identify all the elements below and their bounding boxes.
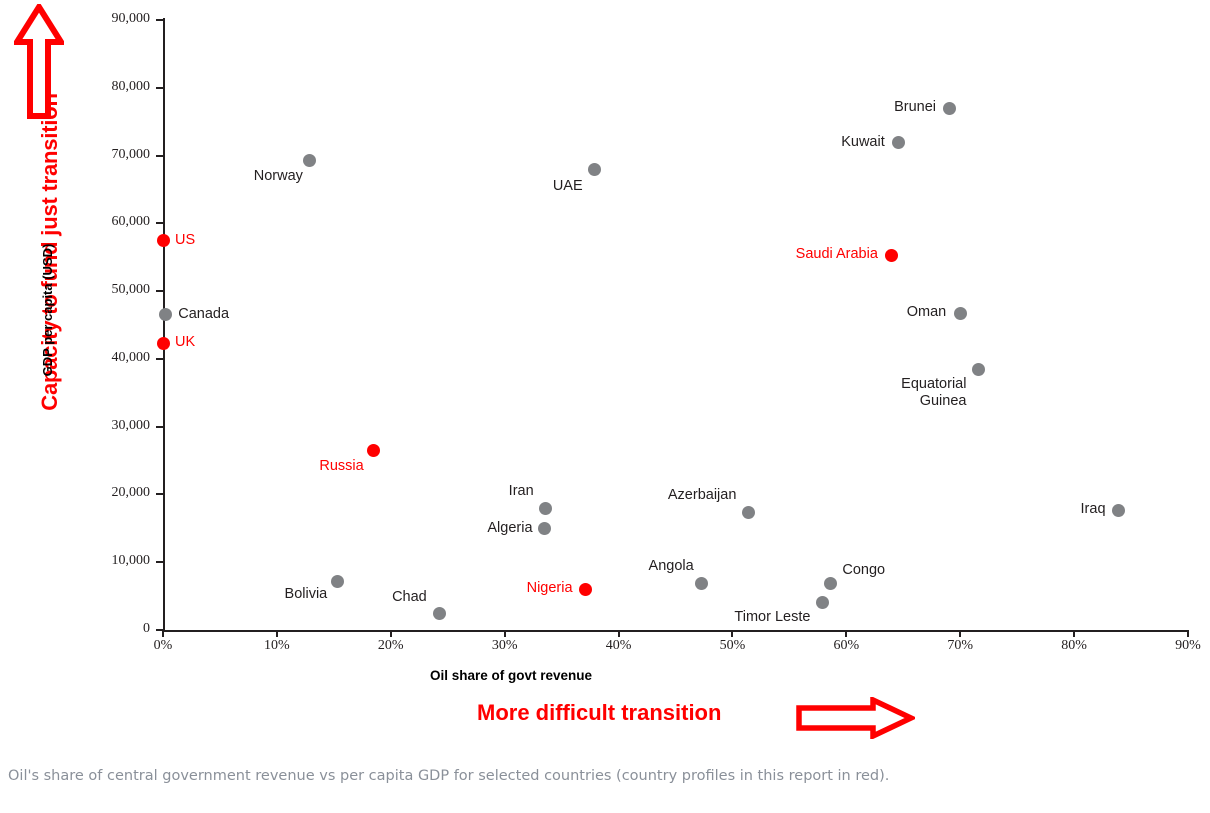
data-point-label: Russia — [319, 458, 363, 475]
x-tick — [731, 630, 733, 637]
data-point-label: Congo — [842, 562, 885, 579]
y-tick — [156, 358, 163, 360]
data-point-label: UAE — [553, 178, 583, 195]
data-point-label: Bolivia — [285, 586, 328, 603]
x-tick-label: 10% — [247, 638, 307, 654]
y-tick-label-wrap: 60,000 — [78, 214, 150, 232]
y-tick — [156, 493, 163, 495]
data-point[interactable] — [1112, 504, 1125, 517]
data-point[interactable] — [538, 522, 551, 535]
y-tick — [156, 426, 163, 428]
y-tick — [156, 87, 163, 89]
data-point[interactable] — [159, 308, 172, 321]
x-tick — [504, 630, 506, 637]
y-tick-label-wrap: 0 — [78, 621, 150, 639]
y-tick-label: 90,000 — [80, 11, 150, 27]
y-tick-label-wrap: 40,000 — [78, 350, 150, 368]
y-tick-label: 30,000 — [80, 418, 150, 434]
data-point-label: Canada — [178, 306, 229, 323]
data-point-label: UK — [175, 334, 195, 351]
data-point-label: Iran — [509, 483, 534, 500]
x-tick-label: 30% — [475, 638, 535, 654]
data-point[interactable] — [367, 444, 380, 457]
y-tick-label-wrap: 50,000 — [78, 282, 150, 300]
x-axis-title: Oil share of govt revenue — [430, 668, 592, 683]
data-point[interactable] — [303, 154, 316, 167]
data-point[interactable] — [433, 607, 446, 620]
data-point-label: Timor Leste — [734, 609, 810, 626]
y-tick — [156, 290, 163, 292]
right-arrow-icon — [795, 697, 915, 739]
data-point[interactable] — [588, 163, 601, 176]
data-point-label: Algeria — [487, 520, 532, 537]
y-tick-label: 50,000 — [80, 282, 150, 298]
data-point[interactable] — [157, 234, 170, 247]
y-tick — [156, 19, 163, 21]
data-point-label: Norway — [254, 168, 303, 185]
data-point-label: Chad — [392, 589, 427, 606]
x-tick — [845, 630, 847, 637]
y-tick-label-wrap: 30,000 — [78, 418, 150, 436]
y-tick-label: 80,000 — [80, 79, 150, 95]
data-point[interactable] — [695, 577, 708, 590]
x-tick-label: 50% — [702, 638, 762, 654]
data-point[interactable] — [816, 596, 829, 609]
y-tick-label: 70,000 — [80, 147, 150, 163]
y-tick — [156, 222, 163, 224]
data-point[interactable] — [331, 575, 344, 588]
y-tick — [156, 155, 163, 157]
y-tick — [156, 561, 163, 563]
x-tick-label: 40% — [589, 638, 649, 654]
difficulty-annotation-label: More difficult transition — [477, 700, 721, 726]
y-axis-line — [163, 18, 165, 632]
data-point-label: Iraq — [1081, 501, 1106, 518]
y-tick-label: 0 — [80, 621, 150, 637]
x-tick-label: 90% — [1158, 638, 1210, 654]
y-tick-label-wrap: 70,000 — [78, 147, 150, 165]
data-point[interactable] — [954, 307, 967, 320]
data-point[interactable] — [157, 337, 170, 350]
data-point-label: Equatorial Guinea — [901, 376, 966, 410]
y-tick-label: 60,000 — [80, 214, 150, 230]
data-point-label: Kuwait — [841, 134, 885, 151]
data-point-label: US — [175, 232, 195, 249]
y-tick-label-wrap: 80,000 — [78, 79, 150, 97]
x-tick — [162, 630, 164, 637]
y-tick-label-wrap: 90,000 — [78, 11, 150, 29]
data-point[interactable] — [885, 249, 898, 262]
data-point[interactable] — [824, 577, 837, 590]
data-point-label: Nigeria — [527, 580, 573, 597]
x-tick — [1073, 630, 1075, 637]
data-point-label: Oman — [907, 304, 947, 321]
data-point[interactable] — [742, 506, 755, 519]
data-point[interactable] — [972, 363, 985, 376]
x-tick — [390, 630, 392, 637]
data-point[interactable] — [892, 136, 905, 149]
data-point-label: Angola — [649, 558, 694, 575]
x-tick-label: 20% — [361, 638, 421, 654]
scatter-plot: 010,00020,00030,00040,00050,00060,00070,… — [0, 0, 1210, 660]
x-tick — [618, 630, 620, 637]
y-tick-label: 20,000 — [80, 485, 150, 501]
y-tick-label: 10,000 — [80, 553, 150, 569]
data-point[interactable] — [539, 502, 552, 515]
data-point-label: Azerbaijan — [668, 487, 737, 504]
y-tick-label: 40,000 — [80, 350, 150, 366]
x-axis-line — [163, 630, 1189, 632]
x-tick-label: 70% — [930, 638, 990, 654]
x-tick — [1187, 630, 1189, 637]
x-tick-label: 80% — [1044, 638, 1104, 654]
data-point-label: Saudi Arabia — [796, 246, 878, 263]
x-tick-label: 60% — [816, 638, 876, 654]
data-point[interactable] — [943, 102, 956, 115]
x-tick — [959, 630, 961, 637]
figure-caption: Oil's share of central government revenu… — [8, 768, 889, 784]
data-point-label: Brunei — [894, 99, 936, 116]
x-tick — [276, 630, 278, 637]
y-tick-label-wrap: 10,000 — [78, 553, 150, 571]
data-point[interactable] — [579, 583, 592, 596]
x-tick-label: 0% — [133, 638, 193, 654]
y-tick-label-wrap: 20,000 — [78, 485, 150, 503]
